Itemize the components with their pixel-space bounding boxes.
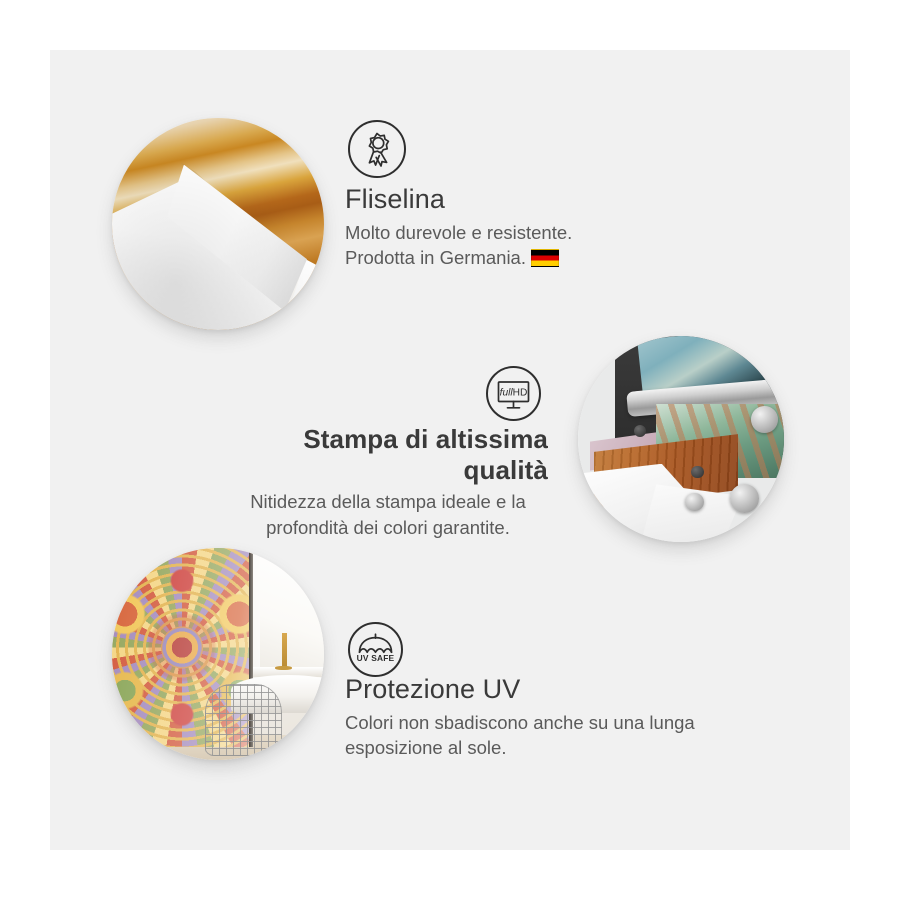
feature-text-protezione-uv: Protezione UV Colori non sbadiscono anch… — [345, 674, 765, 761]
german-flag-icon — [531, 249, 559, 267]
feature-text-fliselina: Fliselina Molto durevole e resistente. P… — [345, 184, 745, 271]
feature-heading-protezione-uv: Protezione UV — [345, 674, 765, 706]
feature-image-fliselina — [112, 118, 324, 330]
press-bolt-front — [691, 466, 703, 478]
svg-text:fullHD: fullHD — [500, 387, 528, 398]
press-bolt-left — [634, 425, 646, 437]
fullhd-monitor-icon: fullHD — [486, 366, 541, 421]
feature-body-stampa-line1: Nitidezza della stampa ideale e la — [228, 489, 548, 515]
uv-safe-umbrella-icon: UV SAFE — [348, 622, 403, 677]
press-knob-upper-right — [751, 406, 778, 433]
mandala-wire-chair — [205, 684, 281, 756]
feature-heading-stampa: Stampa di altissima qualità — [228, 424, 548, 485]
fleece-shading — [112, 118, 324, 330]
svg-text:UV SAFE: UV SAFE — [357, 653, 395, 663]
feature-body-stampa-line2: profondità dei colori garantite. — [228, 515, 548, 541]
feature-body-uv-line1: Colori non sbadiscono anche su una lunga — [345, 710, 765, 736]
feature-body-fliselina-line1: Molto durevole e resistente. — [345, 220, 745, 246]
feature-text-stampa: Stampa di altissima qualità Nitidezza de… — [228, 424, 548, 540]
mandala-candlestick-base — [275, 666, 292, 670]
press-knob-center — [685, 493, 704, 512]
feature-body-fliselina-line2-text: Prodotta in Germania. — [345, 247, 526, 268]
feature-image-protezione-uv — [112, 548, 324, 760]
feature-image-stampa — [578, 336, 784, 542]
mandala-window — [260, 556, 324, 670]
feature-body-uv-line2: esposizione al sole. — [345, 735, 765, 761]
product-feature-infographic: Fliselina Molto durevole e resistente. P… — [0, 0, 900, 900]
mandala-candlestick — [282, 633, 287, 669]
feature-heading-fliselina: Fliselina — [345, 184, 745, 216]
award-rosette-icon — [348, 120, 406, 178]
feature-body-fliselina-line2: Prodotta in Germania. — [345, 245, 745, 271]
